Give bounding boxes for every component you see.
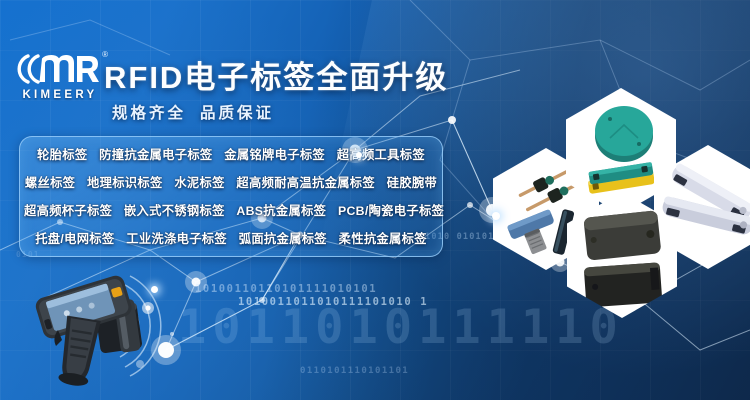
product-row-4: 托盘/电网标签 工业洗涤电子标签 弧面抗金属标签 柔性抗金属标签 bbox=[20, 226, 442, 253]
product-item: 金属铭牌电子标签 bbox=[224, 148, 325, 162]
glow-dot bbox=[356, 152, 362, 158]
binary-text-1: 10100110110101111010101 bbox=[195, 283, 377, 295]
glow-dot bbox=[492, 212, 500, 220]
glow-dot bbox=[151, 286, 158, 293]
binary-text-5: 0110101110101101 bbox=[300, 366, 409, 376]
binary-watermark-large: 1011010111110 bbox=[178, 300, 624, 355]
product-item: 嵌入式不锈钢标签 bbox=[124, 204, 225, 218]
product-item: 弧面抗金属标签 bbox=[239, 232, 327, 246]
kmr-logo-mark: ® bbox=[14, 52, 106, 86]
kimeery-logo: ® KIMEERY bbox=[14, 52, 106, 110]
subtitle-right: 品质保证 bbox=[200, 105, 274, 122]
product-item: 螺丝标签 bbox=[25, 176, 75, 190]
handheld-reader-illustration bbox=[22, 268, 182, 396]
product-item: 水泥标签 bbox=[174, 176, 224, 190]
product-row-1: 轮胎标签 防撞抗金属电子标签 金属铭牌电子标签 超高频工具标签 bbox=[20, 142, 442, 169]
product-item: 柔性抗金属标签 bbox=[339, 232, 427, 246]
page-title: RFID电子标签全面升级 bbox=[104, 52, 448, 97]
product-item: 防撞抗金属电子标签 bbox=[99, 148, 212, 162]
product-list-panel: 轮胎标签 防撞抗金属电子标签 金属铭牌电子标签 超高频工具标签 螺丝标签 地理标… bbox=[19, 136, 443, 257]
rfid-promo-banner: 1011010111110 10100110110101111010101 10… bbox=[0, 0, 750, 400]
product-row-2: 螺丝标签 地理标识标签 水泥标签 超高频耐高温抗金属标签 硅胶腕带 bbox=[20, 170, 442, 197]
brand-name: KIMEERY bbox=[14, 89, 106, 101]
product-item: 地理标识标签 bbox=[87, 176, 163, 190]
page-subtitle: 规格齐全品质保证 bbox=[112, 101, 274, 123]
handheld-uhf-rfid-reader bbox=[22, 268, 182, 396]
product-item: 硅胶腕带 bbox=[387, 176, 437, 190]
product-item: 超高频耐高温抗金属标签 bbox=[236, 176, 375, 190]
product-item: 托盘/电网标签 bbox=[35, 232, 114, 246]
subtitle-left: 规格齐全 bbox=[112, 105, 186, 122]
product-item: PCB/陶瓷电子标签 bbox=[338, 204, 444, 218]
product-item: 超高频杯子标签 bbox=[24, 204, 112, 218]
product-item: ABS抗金属标签 bbox=[236, 204, 326, 218]
product-item: 工业洗涤电子标签 bbox=[126, 232, 227, 246]
product-item: 轮胎标签 bbox=[37, 148, 87, 162]
product-row-3: 超高频杯子标签 嵌入式不锈钢标签 ABS抗金属标签 PCB/陶瓷电子标签 bbox=[20, 198, 442, 225]
product-item: 超高频工具标签 bbox=[337, 148, 425, 162]
binary-text-2: 1010011011010111101010 1 bbox=[238, 296, 428, 308]
